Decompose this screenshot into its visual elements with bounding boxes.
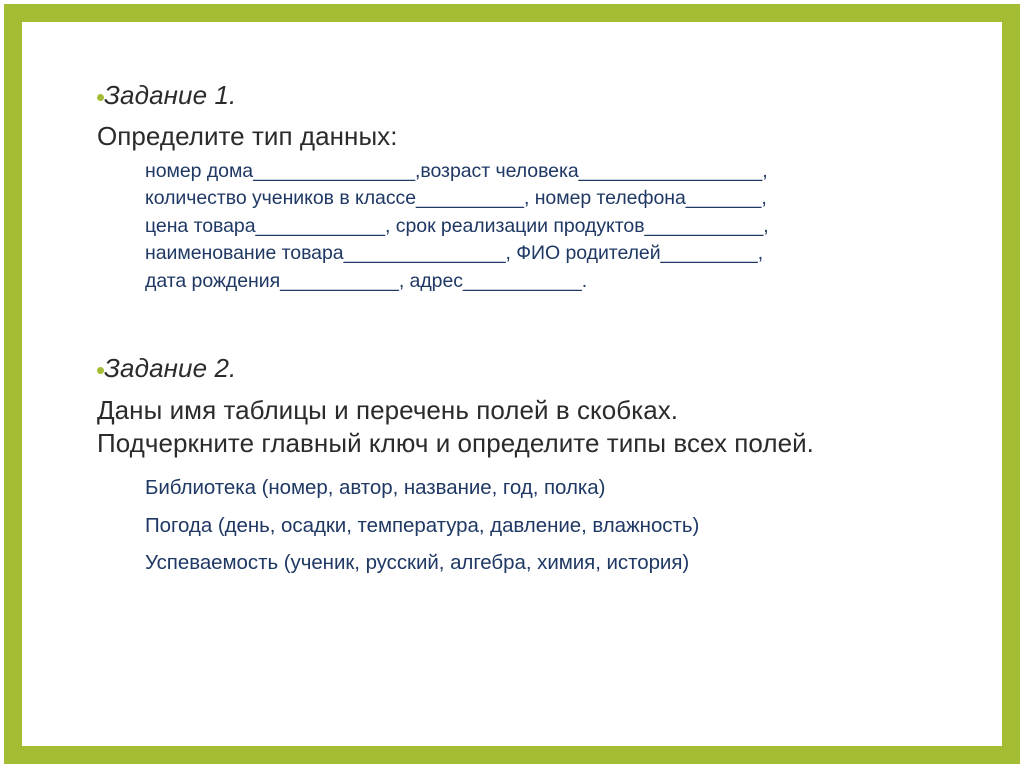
task-2-prompt-line-1: Даны имя таблицы и перечень полей в скоб… [97, 394, 982, 428]
list-item: Успеваемость (ученик, русский, алгебра, … [97, 544, 982, 582]
bullet-icon [97, 367, 104, 374]
task-1-block: Задание 1. Определите тип данных: номер … [97, 80, 982, 295]
slide-canvas: Задание 1. Определите тип данных: номер … [22, 22, 1002, 746]
task-1-heading: Задание 1. [97, 80, 982, 110]
slide-content: Задание 1. Определите тип данных: номер … [97, 80, 982, 582]
task-2-prompt-line-2: Подчеркните главный ключ и определите ти… [97, 427, 982, 461]
list-item: количество учеников в классе__________, … [97, 185, 982, 212]
task-2-table-list: Библиотека (номер, автор, название, год,… [97, 469, 982, 582]
list-item: номер дома_______________,возраст челове… [97, 158, 982, 185]
list-item: цена товара____________, срок реализации… [97, 213, 982, 240]
list-item: дата рождения___________, адрес_________… [97, 268, 982, 295]
task-2-heading: Задание 2. [97, 353, 982, 383]
task-2-heading-label: Задание 2. [104, 353, 236, 383]
task-1-field-list: номер дома_______________,возраст челове… [97, 158, 982, 295]
task-2-block: Задание 2. Даны имя таблицы и перечень п… [97, 353, 982, 581]
bullet-icon [97, 94, 104, 101]
list-item: наименование товара_______________, ФИО … [97, 240, 982, 267]
list-item: Погода (день, осадки, температура, давле… [97, 507, 982, 545]
list-item: Библиотека (номер, автор, название, год,… [97, 469, 982, 507]
task-1-prompt: Определите тип данных: [97, 120, 982, 154]
slide: Задание 1. Определите тип данных: номер … [0, 0, 1024, 768]
task-1-heading-label: Задание 1. [104, 80, 236, 110]
